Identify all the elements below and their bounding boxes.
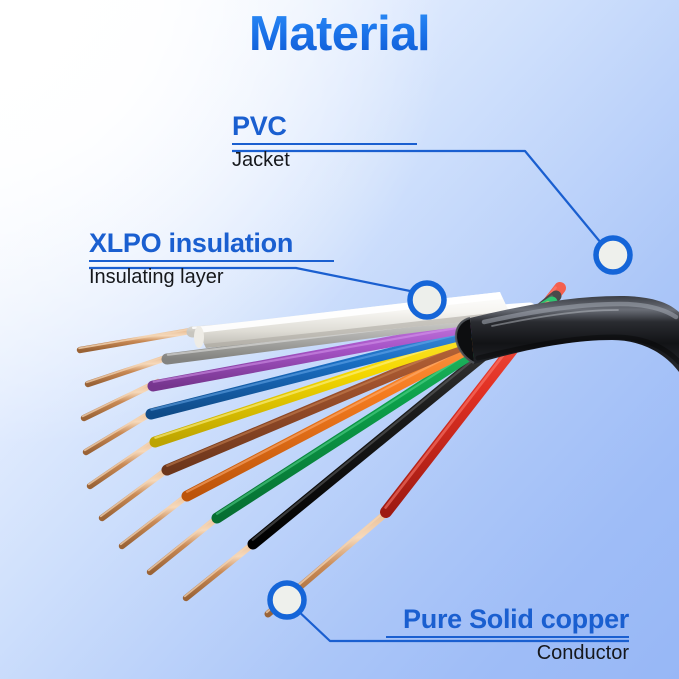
callout-label-copper: Pure Solid copper Conductor xyxy=(386,605,629,665)
callout-marker-copper[interactable] xyxy=(270,583,304,617)
callout-subtitle-xlpo: Insulating layer xyxy=(89,264,334,289)
callout-rule-xlpo xyxy=(89,260,334,262)
page-title: Material xyxy=(0,6,679,62)
cable-illustration xyxy=(0,0,679,679)
callout-label-xlpo: XLPO insulation Insulating layer xyxy=(89,229,334,289)
callout-marker-xlpo[interactable] xyxy=(410,283,444,317)
callout-marker-pvc[interactable] xyxy=(596,238,630,272)
callout-title-copper: Pure Solid copper xyxy=(386,605,629,633)
callout-rule-copper xyxy=(386,636,629,638)
callout-subtitle-pvc: Jacket xyxy=(232,147,417,172)
callout-label-pvc: PVC Jacket xyxy=(232,112,417,172)
callout-subtitle-copper: Conductor xyxy=(386,640,629,665)
callout-title-pvc: PVC xyxy=(232,112,417,140)
callout-rule-pvc xyxy=(232,143,417,145)
callout-title-xlpo: XLPO insulation xyxy=(89,229,334,257)
material-infographic: Material PVC Jacket XLPO insulation Insu… xyxy=(0,0,679,679)
